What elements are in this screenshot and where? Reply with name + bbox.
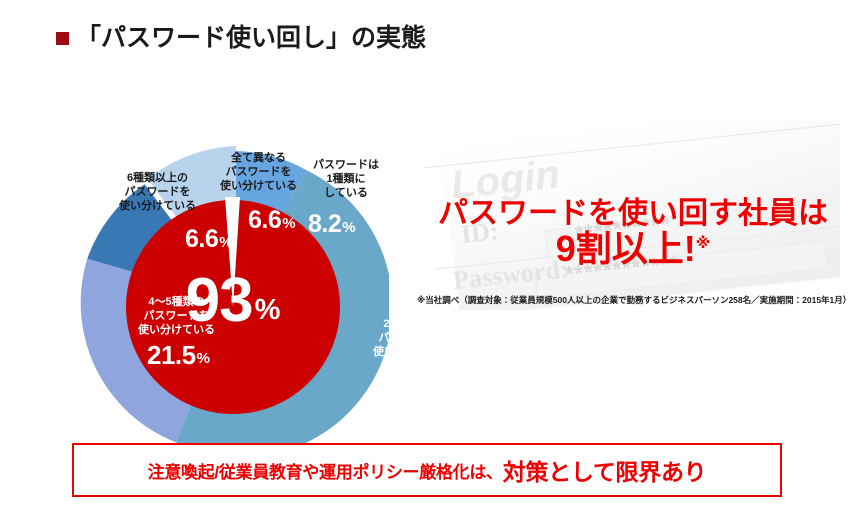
pie-value-all-diff-number: 6.6 bbox=[248, 208, 281, 233]
pie-value-two-three-unit: % bbox=[407, 379, 420, 394]
pie-value-one-kind-unit: % bbox=[342, 220, 355, 235]
headline: パスワードを使い回す社員は 9割以上!※ bbox=[423, 198, 843, 268]
pie-chart-area: 93% 全て異なるパスワードを使い分けている 6種類以上のパスワードを使い分けて… bbox=[55, 70, 415, 430]
conclusion-banner-large-text: 対策として限界あり bbox=[503, 453, 707, 487]
pie-value-two-three: 57% bbox=[378, 370, 420, 396]
headline-line-1: パスワードを使い回す社員は bbox=[423, 198, 843, 230]
headline-footnote-marker: ※ bbox=[696, 235, 711, 252]
pie-value-two-three-number: 57 bbox=[378, 370, 406, 396]
pie-label-all-diff: 全て異なるパスワードを使い分けている bbox=[220, 151, 297, 193]
pie-value-four-five-unit: % bbox=[197, 351, 210, 366]
pie-value-all-diff-unit: % bbox=[282, 216, 295, 231]
pie-label-one-kind: パスワードは1種類にしている bbox=[313, 158, 379, 200]
headline-line-2: 9割以上!※ bbox=[423, 230, 843, 268]
headline-line-2-text: 9割以上! bbox=[556, 228, 696, 269]
pie-value-six-plus-number: 6.6 bbox=[185, 227, 218, 252]
page-title-text: 「パスワード使い回し」の実態 bbox=[76, 26, 426, 51]
pie-value-one-kind: 8.2% bbox=[308, 212, 356, 237]
pie-label-six-plus: 6種類以上のパスワードを使い分けている bbox=[119, 171, 196, 213]
pie-value-four-five: 21.5% bbox=[147, 342, 210, 368]
square-bullet-icon bbox=[56, 32, 69, 45]
pie-value-one-kind-number: 8.2 bbox=[308, 212, 341, 237]
pie-label-two-three: 2〜3種類のパスワードを使い分けている bbox=[373, 317, 450, 359]
conclusion-banner-small-text: 注意喚起/従業員教育や運用ポリシー厳格化は、 bbox=[148, 458, 503, 483]
infographic-slide: 「パスワード使い回し」の実態 bbox=[0, 0, 850, 530]
pie-label-four-five: 4〜5種類のパスワードを使い分けている bbox=[138, 295, 215, 337]
conclusion-banner: 注意喚起/従業員教育や運用ポリシー厳格化は、対策として限界あり bbox=[72, 443, 782, 497]
pie-value-six-plus-unit: % bbox=[219, 235, 232, 250]
survey-footnote: ※当社調べ（調査対象：従業員規模500人以上の企業で勤務するビジネスパーソン25… bbox=[417, 295, 842, 306]
pie-value-four-five-number: 21.5 bbox=[147, 342, 196, 368]
pie-value-all-diff: 6.6% bbox=[248, 208, 296, 233]
pie-value-six-plus: 6.6% bbox=[185, 227, 233, 252]
page-title: 「パスワード使い回し」の実態 bbox=[56, 26, 426, 51]
headline-panel: Login ID: Password: ********** *********… bbox=[415, 120, 840, 320]
